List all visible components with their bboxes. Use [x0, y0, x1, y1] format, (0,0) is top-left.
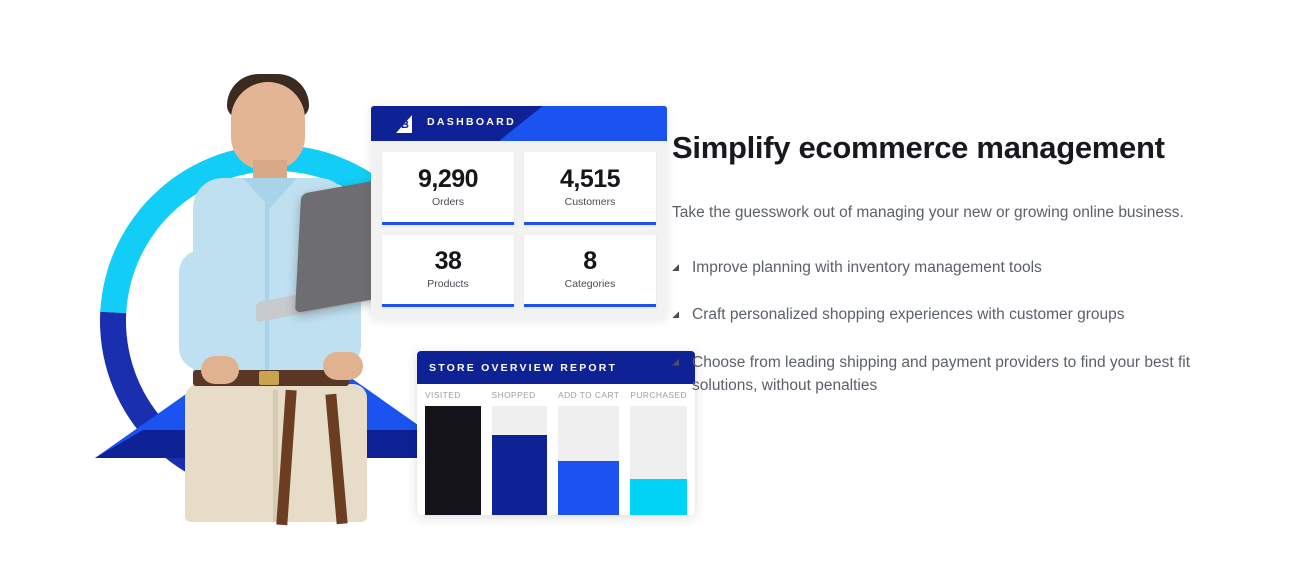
- person-head: [231, 82, 305, 170]
- funnel-bar-track: [425, 406, 481, 515]
- funnel-column-visited: VISITED: [425, 384, 481, 515]
- dashboard-header: B DASHBOARD: [371, 106, 667, 141]
- wedge-bullet-icon: [672, 264, 679, 271]
- funnel-label: ADD TO CART: [558, 384, 619, 406]
- person-hand-left: [201, 356, 239, 384]
- dashboard-title: DASHBOARD: [427, 116, 516, 128]
- logo-letter: B: [396, 120, 409, 133]
- stat-label: Categories: [565, 278, 616, 290]
- stat-label: Customers: [565, 196, 616, 208]
- person-shirt-placket: [265, 190, 269, 370]
- dashboard-header-diagonal-accent: [499, 106, 667, 141]
- list-item: Improve planning with inventory manageme…: [672, 256, 1222, 279]
- subtitle: Take the guesswork out of managing your …: [672, 202, 1232, 224]
- funnel-column-purchased: PURCHASED: [630, 384, 687, 515]
- stat-value: 9,290: [418, 166, 478, 192]
- person-arm-left: [179, 250, 223, 370]
- page-root: B DASHBOARD 9,290 Orders 4,515 Customers…: [0, 0, 1313, 561]
- funnel-bar-track: [492, 406, 548, 515]
- funnel-chart: VISITED SHOPPED ADD TO CART: [417, 384, 695, 515]
- hero-illustration: B DASHBOARD 9,290 Orders 4,515 Customers…: [60, 40, 660, 490]
- funnel-label: VISITED: [425, 384, 481, 406]
- funnel-bar-track: [558, 406, 619, 515]
- list-item-label: Choose from leading shipping and payment…: [692, 354, 1190, 394]
- stat-label: Orders: [432, 196, 464, 208]
- stat-value: 4,515: [560, 166, 620, 192]
- copy-column: Simplify ecommerce management Take the g…: [672, 130, 1232, 397]
- dashboard-stat-grid: 9,290 Orders 4,515 Customers 38 Products…: [371, 141, 667, 318]
- person-hand-right: [323, 352, 363, 380]
- wedge-bullet-icon: [672, 359, 679, 366]
- funnel-label: SHOPPED: [492, 384, 548, 406]
- stat-card-customers: 4,515 Customers: [524, 152, 656, 225]
- funnel-column-add-to-cart: ADD TO CART: [558, 384, 619, 515]
- report-header: STORE OVERVIEW REPORT: [417, 351, 695, 384]
- stat-value: 38: [435, 248, 462, 274]
- feature-list: Improve planning with inventory manageme…: [672, 256, 1232, 397]
- dashboard-card: B DASHBOARD 9,290 Orders 4,515 Customers…: [371, 106, 667, 318]
- funnel-column-shopped: SHOPPED: [492, 384, 548, 515]
- list-item: Choose from leading shipping and payment…: [672, 351, 1222, 398]
- stat-card-products: 38 Products: [382, 235, 514, 308]
- stat-label: Products: [427, 278, 468, 290]
- person-belt-buckle: [259, 371, 279, 385]
- stat-card-orders: 9,290 Orders: [382, 152, 514, 225]
- bigcommerce-b-logo-icon: B: [393, 115, 412, 133]
- funnel-bar-fill: [558, 461, 619, 516]
- stat-value: 8: [583, 248, 596, 274]
- funnel-bar-fill: [425, 406, 481, 515]
- list-item: Craft personalized shopping experiences …: [672, 303, 1222, 326]
- funnel-bar-fill: [630, 479, 687, 515]
- report-title: STORE OVERVIEW REPORT: [429, 362, 617, 374]
- list-item-label: Craft personalized shopping experiences …: [692, 306, 1125, 323]
- wedge-bullet-icon: [672, 311, 679, 318]
- list-item-label: Improve planning with inventory manageme…: [692, 259, 1042, 276]
- funnel-bar-fill: [492, 435, 548, 515]
- funnel-bar-track: [630, 406, 687, 515]
- page-title: Simplify ecommerce management: [672, 130, 1232, 166]
- store-overview-report-card: STORE OVERVIEW REPORT VISITED SHOPPED AD…: [417, 351, 695, 515]
- stat-card-categories: 8 Categories: [524, 235, 656, 308]
